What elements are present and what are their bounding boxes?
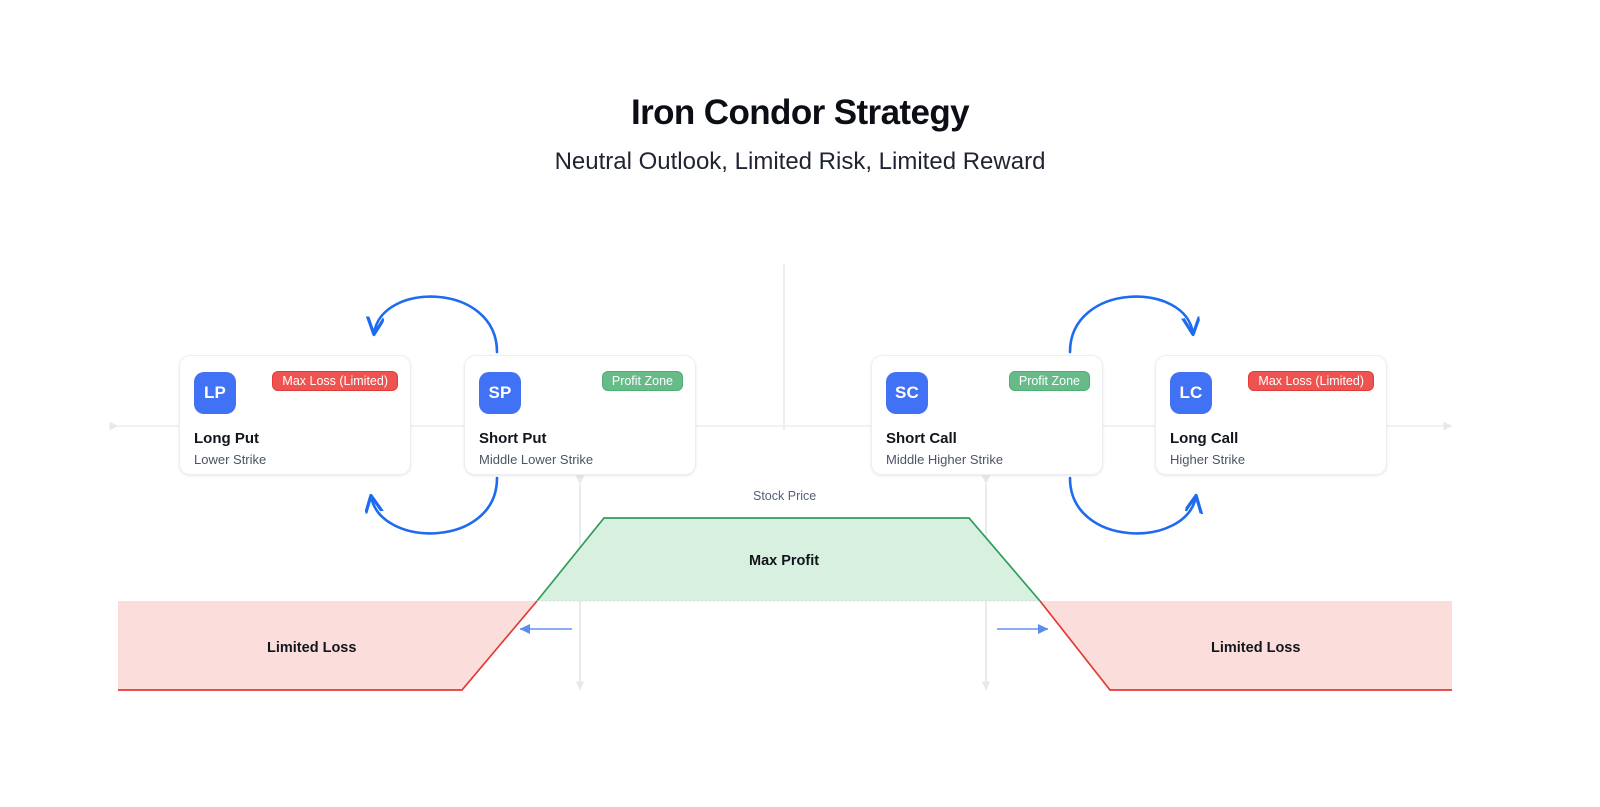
pair-arc-bottom-left [371, 478, 497, 533]
leg-code-badge-lp: LP [194, 372, 236, 414]
leg-status-pill-max-loss: Max Loss (Limited) [1248, 371, 1374, 391]
leg-strike-label: Middle Lower Strike [479, 452, 593, 468]
leg-card-header: SC Profit Zone [872, 356, 1102, 412]
leg-status-pill-max-loss: Max Loss (Limited) [272, 371, 398, 391]
leg-card-long-put[interactable]: LP Max Loss (Limited) Long Put Lower Str… [179, 355, 411, 475]
leg-status-pill-profit-zone: Profit Zone [1009, 371, 1090, 391]
leg-strike-label: Higher Strike [1170, 452, 1245, 468]
pair-arc-top-left [374, 297, 497, 352]
leg-name-label: Long Call [1170, 430, 1238, 448]
limited-loss-left-label: Limited Loss [267, 640, 356, 656]
leg-name-label: Short Put [479, 430, 547, 448]
leg-strike-label: Lower Strike [194, 452, 266, 468]
leg-name-label: Long Put [194, 430, 259, 448]
leg-card-header: LC Max Loss (Limited) [1156, 356, 1386, 412]
axis-label-stock-price: Stock Price [753, 489, 816, 503]
leg-status-pill-profit-zone: Profit Zone [602, 371, 683, 391]
limited-loss-right-label: Limited Loss [1211, 640, 1300, 656]
leg-code-badge-sp: SP [479, 372, 521, 414]
leg-name-label: Short Call [886, 430, 957, 448]
payoff-diagram: LP Max Loss (Limited) Long Put Lower Str… [0, 0, 1600, 807]
leg-card-long-call[interactable]: LC Max Loss (Limited) Long Call Higher S… [1155, 355, 1387, 475]
pair-arc-top-right [1070, 297, 1193, 352]
leg-code-badge-sc: SC [886, 372, 928, 414]
leg-card-short-put[interactable]: SP Profit Zone Short Put Middle Lower St… [464, 355, 696, 475]
pair-arc-bottom-right [1070, 478, 1196, 533]
leg-code-badge-lc: LC [1170, 372, 1212, 414]
leg-card-header: SP Profit Zone [465, 356, 695, 412]
max-profit-label: Max Profit [749, 553, 819, 569]
leg-card-header: LP Max Loss (Limited) [180, 356, 410, 412]
leg-strike-label: Middle Higher Strike [886, 452, 1003, 468]
leg-card-short-call[interactable]: SC Profit Zone Short Call Middle Higher … [871, 355, 1103, 475]
